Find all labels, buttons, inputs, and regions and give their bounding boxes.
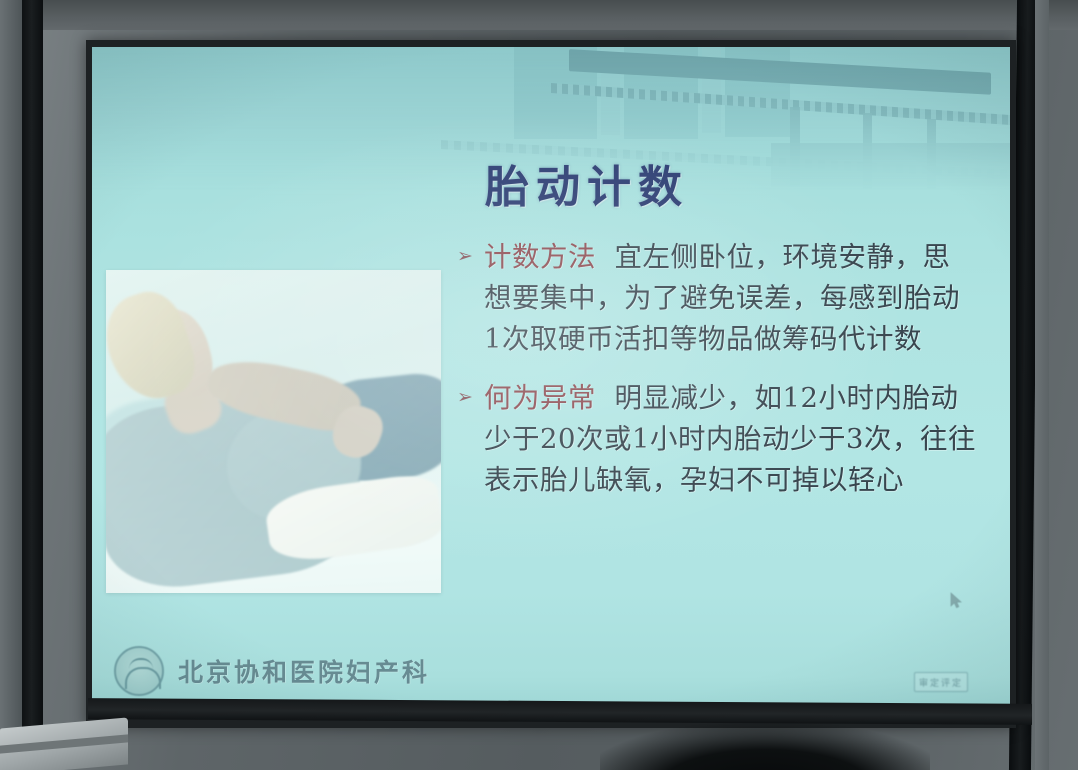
hospital-logo-icon: [114, 646, 164, 696]
projected-slide[interactable]: 胎动计数 ➢ 计数方法 宜左侧卧位，环境安静，思想要集中，为了避免误差，每感到胎…: [92, 47, 1010, 710]
bullet-keyword: 计数方法: [484, 241, 596, 273]
footer-department-label: 北京协和医院妇产科: [178, 653, 430, 689]
bullet-item: ➢ 何为异常 明显减少，如12小时内胎动少于20次或1小时内胎动少于3次，往往表…: [457, 378, 977, 501]
mouse-cursor-icon: [950, 592, 963, 609]
slide-corner-badge: 审定评定: [914, 672, 968, 692]
slide-title: 胎动计数: [422, 151, 752, 215]
bullet-item: ➢ 计数方法 宜左侧卧位，环境安静，思想要集中，为了避免误差，每感到胎动1次取硬…: [457, 237, 977, 360]
right-wall-panel: [1035, 0, 1049, 770]
frame-post-left: [22, 0, 43, 742]
pregnant-woman-photo: [106, 270, 441, 593]
screenshot-root: 胎动计数 ➢ 计数方法 宜左侧卧位，环境安静，思想要集中，为了避免误差，每感到胎…: [0, 0, 1078, 770]
bullet-paragraph: 计数方法 宜左侧卧位，环境安静，思想要集中，为了避免误差，每感到胎动1次取硬币活…: [457, 237, 977, 360]
bullet-keyword: 何为异常: [484, 382, 596, 414]
ceiling-strip: [0, 0, 1078, 30]
bullet-paragraph: 何为异常 明显减少，如12小时内胎动少于20次或1小时内胎动少于3次，往往表示胎…: [457, 378, 977, 501]
slide-footer: 北京协和医院妇产科: [114, 646, 430, 696]
slide-body: ➢ 计数方法 宜左侧卧位，环境安静，思想要集中，为了避免误差，每感到胎动1次取硬…: [457, 237, 977, 519]
left-wall-panel: [0, 0, 22, 770]
audience-head-silhouette: [600, 716, 930, 770]
